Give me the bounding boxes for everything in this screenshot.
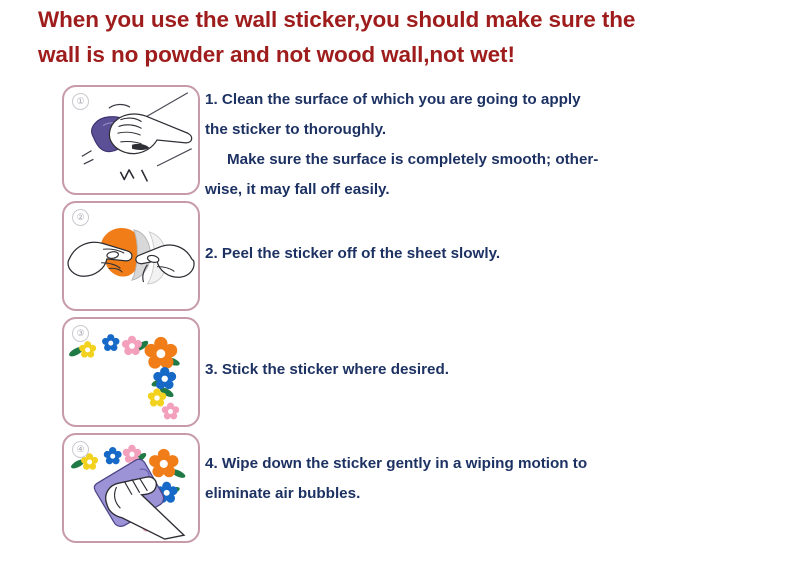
step-item-1: ① 1. Clean the surface of which you are …	[0, 85, 800, 201]
step-1-text: 1. Clean the surface of which you are go…	[205, 85, 765, 205]
step-2-line-1: 2. Peel the sticker off of the sheet slo…	[205, 239, 765, 269]
step-3-line-1: 3. Stick the sticker where desired.	[205, 355, 765, 385]
step-1-illustration-panel: ①	[62, 85, 200, 195]
step-item-3: ③ 3. Stick the sticker where desired.	[0, 317, 800, 433]
step-1-line-1: 1. Clean the surface of which you are go…	[205, 85, 765, 115]
step-2-number-badge: ②	[72, 209, 89, 226]
step-4-number-badge: ④	[72, 441, 89, 458]
step-1-line-3: Make sure the surface is completely smoo…	[205, 145, 765, 175]
page-title-line-1: When you use the wall sticker,you should…	[38, 2, 758, 37]
step-3-number-badge: ③	[72, 325, 89, 342]
step-1-line-2: the sticker to thoroughly.	[205, 115, 765, 145]
step-4-line-2: eliminate air bubbles.	[205, 479, 765, 509]
steps-list: ① 1. Clean the surface of which you are …	[0, 85, 800, 549]
step-4-illustration-panel: ④	[62, 433, 200, 543]
step-1-number-badge: ①	[72, 93, 89, 110]
page-title-line-2: wall is no powder and not wood wall,not …	[38, 37, 758, 72]
step-item-2: ② 2. Peel the sticker off of the sheet s…	[0, 201, 800, 317]
step-4-text: 4. Wipe down the sticker gently in a wip…	[205, 449, 765, 509]
step-4-line-1: 4. Wipe down the sticker gently in a wip…	[205, 449, 765, 479]
step-3-illustration-panel: ③	[62, 317, 200, 427]
page-title: When you use the wall sticker,you should…	[38, 2, 758, 72]
step-3-text: 3. Stick the sticker where desired.	[205, 355, 765, 385]
step-item-4: ④ 4. Wipe down the sticker gently in a w…	[0, 433, 800, 549]
step-2-text: 2. Peel the sticker off of the sheet slo…	[205, 239, 765, 269]
step-2-illustration-panel: ②	[62, 201, 200, 311]
instruction-sheet: When you use the wall sticker,you should…	[0, 0, 800, 566]
